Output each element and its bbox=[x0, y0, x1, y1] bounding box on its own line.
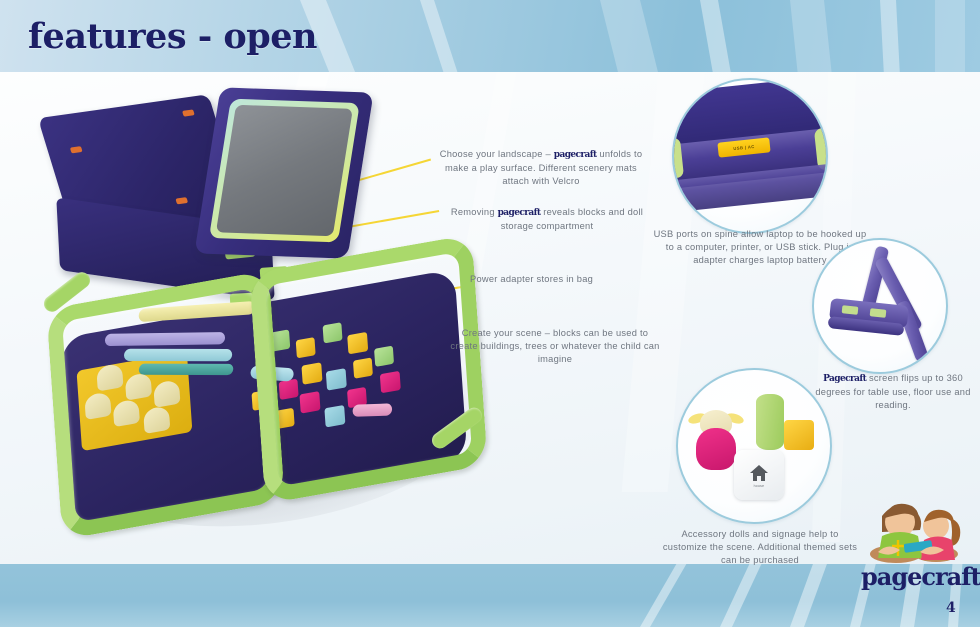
tray-frame-left bbox=[46, 270, 285, 540]
inset-screen-flip bbox=[812, 238, 948, 374]
signage-cube-house: house bbox=[734, 450, 784, 500]
callout-landscape: Choose your landscape – pagecraft unfold… bbox=[432, 148, 650, 188]
callout-storage-text-before: Removing bbox=[451, 207, 498, 217]
callout-storage-brand: pagecraft bbox=[498, 208, 541, 218]
velcro-tab-icon bbox=[182, 109, 195, 116]
laptop-screen bbox=[216, 105, 353, 236]
tray-frame bbox=[46, 234, 485, 510]
children-reading-illustration bbox=[858, 496, 978, 566]
block-cylinder-green bbox=[756, 394, 784, 450]
callout-scene-text: Create your scene – blocks can be used t… bbox=[450, 328, 659, 364]
page-title: features - open bbox=[28, 19, 317, 54]
screen-bezel bbox=[209, 99, 360, 243]
page-root: features - open bbox=[0, 0, 980, 627]
inset-usb-spine: USB | AC bbox=[672, 78, 828, 234]
signage-cube-label: house bbox=[754, 484, 765, 488]
block-tray-illustration bbox=[30, 262, 510, 532]
background-band-bottom bbox=[0, 564, 980, 627]
laptop-lid-right bbox=[194, 87, 373, 258]
caption-screen-flip: Pagecraft screen flips up to 360 degrees… bbox=[808, 372, 978, 412]
callout-landscape-brand: pagecraft bbox=[554, 150, 597, 160]
page-number: 4 bbox=[946, 600, 956, 616]
flip-key-pad bbox=[870, 308, 887, 318]
caption-screen-flip-brand: Pagecraft bbox=[823, 374, 866, 384]
callout-storage: Removing pagecraft reveals blocks and do… bbox=[444, 206, 650, 233]
brand-wordmark: pagecraft bbox=[861, 562, 975, 591]
callout-scene: Create your scene – blocks can be used t… bbox=[448, 327, 662, 367]
callout-adapter-text: Power adapter stores in bag bbox=[470, 274, 593, 284]
house-icon bbox=[748, 463, 770, 483]
tray-frame-right bbox=[249, 234, 488, 504]
block-cube-yellow bbox=[784, 420, 814, 450]
velcro-tab-icon bbox=[70, 146, 83, 153]
inset-accessories: house bbox=[676, 368, 832, 524]
brand-logo: pagecraft bbox=[858, 500, 978, 620]
velcro-tab-icon bbox=[175, 197, 188, 204]
callout-landscape-text-before: Choose your landscape – bbox=[440, 149, 554, 159]
callout-adapter: Power adapter stores in bag bbox=[470, 273, 656, 286]
doll-body bbox=[696, 428, 736, 470]
flip-key-pad bbox=[842, 305, 859, 315]
caption-accessories-text: Accessory dolls and signage help to cust… bbox=[663, 529, 857, 565]
caption-accessories: Accessory dolls and signage help to cust… bbox=[660, 528, 860, 568]
